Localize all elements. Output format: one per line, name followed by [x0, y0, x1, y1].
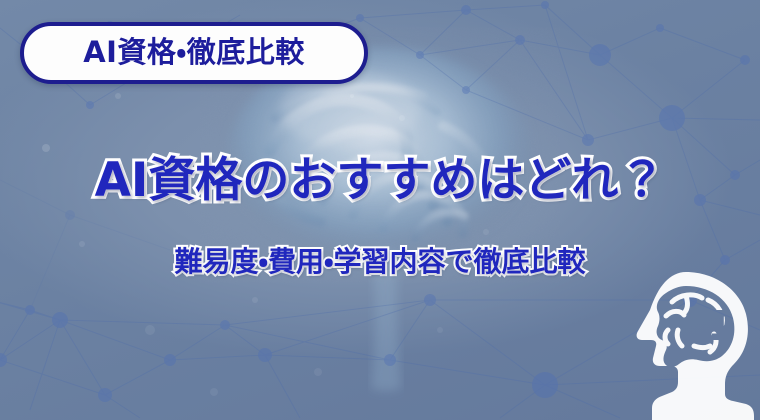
- category-badge-label: AI資格・徹底比較: [83, 38, 305, 67]
- page-title: AI資格のおすすめはどれ？: [95, 156, 666, 206]
- ai-head-silhouette-icon: [622, 268, 754, 420]
- category-badge: AI資格・徹底比較: [20, 22, 368, 84]
- headline-container: AI資格のおすすめはどれ？: [0, 156, 760, 206]
- page-subtitle: 難易度・費用・学習内容で徹底比較: [174, 247, 585, 278]
- banner-graphic: AI資格・徹底比較 AI資格のおすすめはどれ？ 難易度・費用・学習内容で徹底比較: [0, 0, 760, 420]
